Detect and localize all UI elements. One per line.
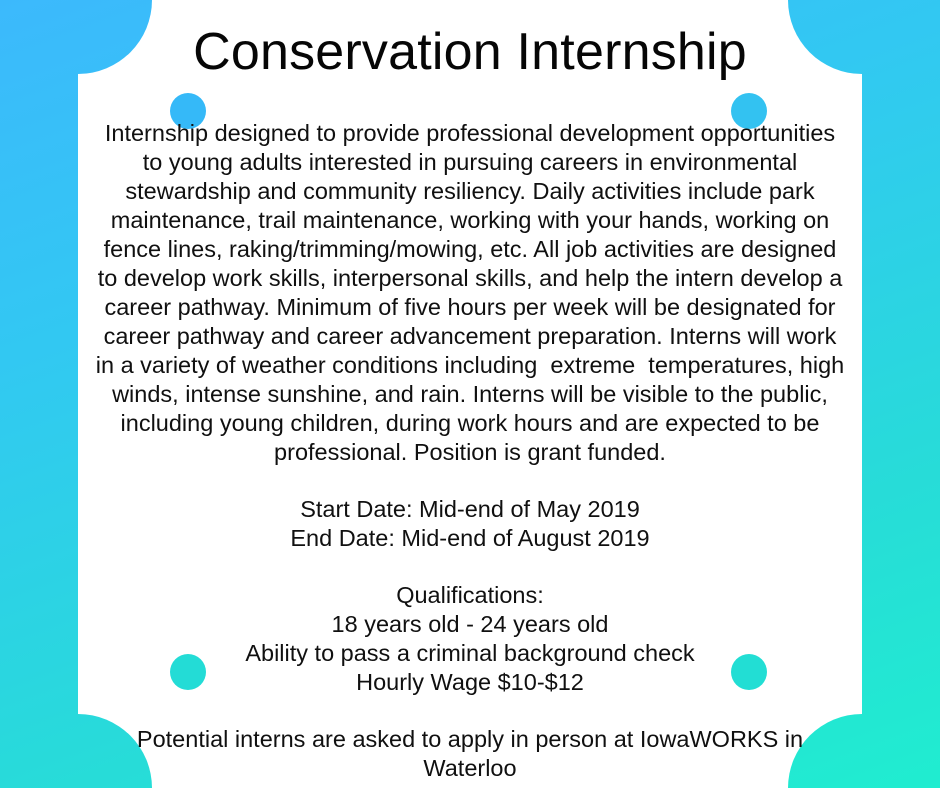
internship-description: Internship designed to provide professio…: [92, 83, 848, 467]
qualification-item: Hourly Wage $10-$12: [92, 668, 848, 697]
dates-section: Start Date: Mid-end of May 2019 End Date…: [92, 467, 848, 553]
page-title: Conservation Internship: [92, 0, 848, 83]
apply-instructions-line-1: Potential interns are asked to apply in …: [92, 725, 848, 783]
qualifications-section: Qualifications: 18 years old - 24 years …: [92, 553, 848, 697]
end-date: End Date: Mid-end of August 2019: [92, 524, 848, 553]
apply-instructions-line-2: with a general application: [92, 783, 848, 788]
apply-section: Potential interns are asked to apply in …: [92, 697, 848, 788]
poster-content: Conservation Internship Internship desig…: [78, 0, 862, 788]
qualification-item: 18 years old - 24 years old: [92, 610, 848, 639]
start-date: Start Date: Mid-end of May 2019: [92, 495, 848, 524]
qualifications-heading: Qualifications:: [92, 581, 848, 610]
poster-root: Conservation Internship Internship desig…: [0, 0, 940, 788]
qualification-item: Ability to pass a criminal background ch…: [92, 639, 848, 668]
